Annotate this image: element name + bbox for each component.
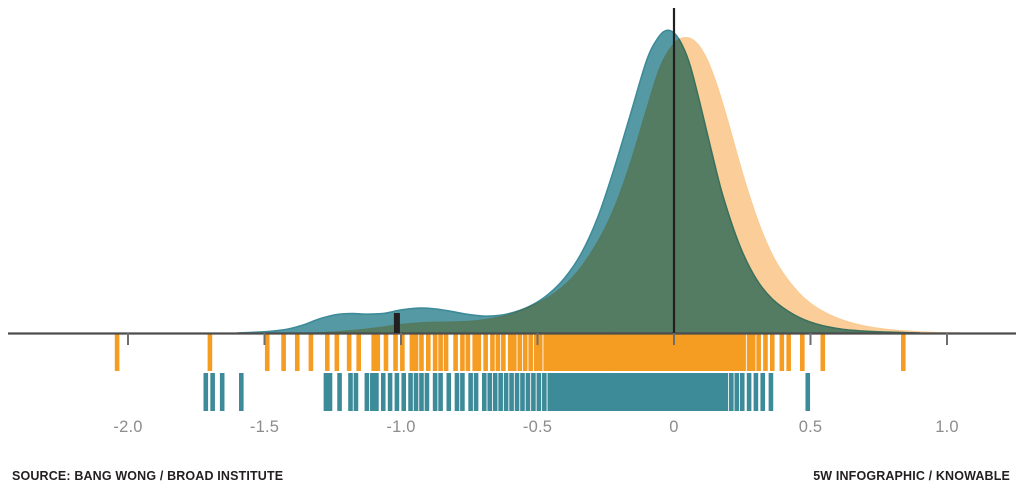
rug-tick [426,334,431,371]
rug-tick [347,334,352,371]
rug-tick [715,373,720,411]
rug-tick [444,334,449,371]
rug-tick [455,373,460,411]
rug-tick [265,334,270,371]
x-tick-label-0: 0 [669,418,678,437]
rug-tick [820,334,825,371]
rug-tick [556,334,561,371]
rug-tick [433,373,438,411]
rug-tick [770,334,775,371]
rug-tick [547,334,552,371]
x-tick-label--1.0: -1.0 [386,418,415,437]
rug-tick [410,334,415,371]
rug-tick [512,334,517,371]
rug-tick [580,373,585,411]
rug-tick [496,334,501,371]
rug-tick [805,373,810,411]
rug-tick [468,373,473,411]
rug-tick [528,334,533,371]
rug-tick [401,373,406,411]
rug-tick [493,373,498,411]
rug-tick [620,373,625,411]
rug-tick [729,373,734,411]
x-tick-label-0.5: 0.5 [799,418,823,437]
rug-tick [800,334,805,371]
rug-tick [613,373,618,411]
rug-tick [204,373,209,411]
rug-tick [725,334,730,371]
publisher-credit: 5W INFOGRAPHIC / KNOWABLE [813,469,1010,483]
rug-tick [593,373,598,411]
rug-tick [747,373,752,411]
rug-tick [760,373,765,411]
rug-tick [477,334,482,371]
rug-tick [337,373,342,411]
rug-tick [564,334,569,371]
rug-tick [721,334,726,371]
rug-tick [542,373,547,411]
rug-tick [425,373,430,411]
rug-tick [572,373,577,411]
rug-tick [733,334,738,371]
rug-tick [381,373,386,411]
rug-tick [483,334,488,371]
rug-tick [901,334,906,371]
density-curves-group [237,30,960,333]
teal-density-area [237,30,920,333]
rug-tick [335,334,340,371]
rug-tick [564,373,569,411]
rug-tick [509,373,514,411]
rug-tick [531,373,536,411]
rug-tick [599,334,604,371]
rug-tick [624,373,629,411]
rug-tick [568,373,573,411]
rug-tick [605,373,610,411]
rug-tick [487,373,492,411]
rug-tick [609,373,614,411]
rug-tick [325,334,330,371]
rug-tick [115,334,120,371]
rug-tick [460,373,465,411]
rug-tick [572,334,577,371]
rug-tick [482,373,487,411]
rug-tick [220,373,225,411]
rug-tick [640,373,645,411]
rug-tick [588,373,593,411]
rug-tick [384,334,389,371]
rug-tick [593,334,598,371]
rug-tick [579,334,584,371]
rug-tick [210,373,215,411]
rug-tick [295,334,300,371]
rug-tick [370,373,375,411]
rug-tick [714,334,719,371]
rug-tick [724,373,729,411]
rug-tick [414,334,419,371]
rug-tick [446,373,451,411]
rug-tick [711,373,716,411]
rug-tick [438,334,443,371]
rug-tick [474,373,479,411]
rug-tick [526,373,531,411]
rug-tick [324,373,329,411]
rug-tick [729,334,734,371]
rug-tick [543,334,548,371]
rug-tick [515,373,520,411]
x-tick-label--0.5: -0.5 [523,418,552,437]
rug-tick [560,334,565,371]
rug-tick [601,373,606,411]
rug-tick [508,334,513,371]
rug-tick [560,373,565,411]
rug-tick [239,373,244,411]
teal-rug-group [204,373,811,411]
rug-tick [780,334,785,371]
rug-tick [466,334,471,371]
rug-tick [517,334,522,371]
rug-tick [460,334,465,371]
rug-tick [453,334,458,371]
rug-tick [414,373,419,411]
rug-tick [597,373,602,411]
rug-tick [547,373,552,411]
rug-tick [309,334,314,371]
rug-tick [741,334,746,371]
rug-tick [419,334,424,371]
rug-tick [576,373,581,411]
rug-tick [552,334,557,371]
rug-tick [328,373,333,411]
rug-tick [472,334,477,371]
rug-tick [751,334,756,371]
orange-rug-group [115,334,906,371]
rug-tick [537,373,542,411]
rug-tick [501,334,506,371]
density-chart-figure: -2.0-1.5-1.0-0.500.51.0 SOURCE: BANG WON… [0,0,1024,499]
rug-tick [395,373,400,411]
rug-tick [419,373,424,411]
rug-tick [281,334,286,371]
rug-tick [433,334,438,371]
rug-tick [371,334,376,371]
rug-tick [747,334,752,371]
rug-tick [504,373,509,411]
rug-tick [756,334,761,371]
rug-tick [552,373,557,411]
rug-tick [523,334,528,371]
rug-tick [438,373,443,411]
rug-tick [538,334,543,371]
rug-tick [365,373,370,411]
rug-tick [763,334,768,371]
rug-tick [408,373,413,411]
rug-tick [707,334,712,371]
x-tick-label-1.0: 1.0 [935,418,959,437]
rug-tick [786,334,791,371]
rug-tick [498,373,503,411]
rug-tick [734,373,739,411]
rug-tick [740,373,745,411]
rug-tick [584,373,589,411]
source-credit: SOURCE: BANG WONG / BROAD INSTITUTE [12,469,283,483]
rug-tick [568,334,573,371]
rug-tick [556,373,561,411]
rug-tick [388,373,393,411]
rug-tick [707,373,712,411]
rug-tick [633,373,638,411]
rug-tick [583,334,588,371]
rug-tick [208,334,213,371]
rug-tick [769,373,774,411]
rug-tick [520,373,525,411]
chart-plot-area [0,0,1024,499]
rug-tick [737,334,742,371]
rug-tick [719,373,724,411]
rug-tick [354,373,359,411]
rug-tick [393,334,398,371]
x-tick-label--2.0: -2.0 [113,418,142,437]
rug-tick [376,334,381,371]
rug-tick [356,334,361,371]
rug-tick [754,373,759,411]
rug-tick [490,334,495,371]
rug-tick [348,373,353,411]
x-tick-label--1.5: -1.5 [250,418,279,437]
rug-tick [374,373,379,411]
